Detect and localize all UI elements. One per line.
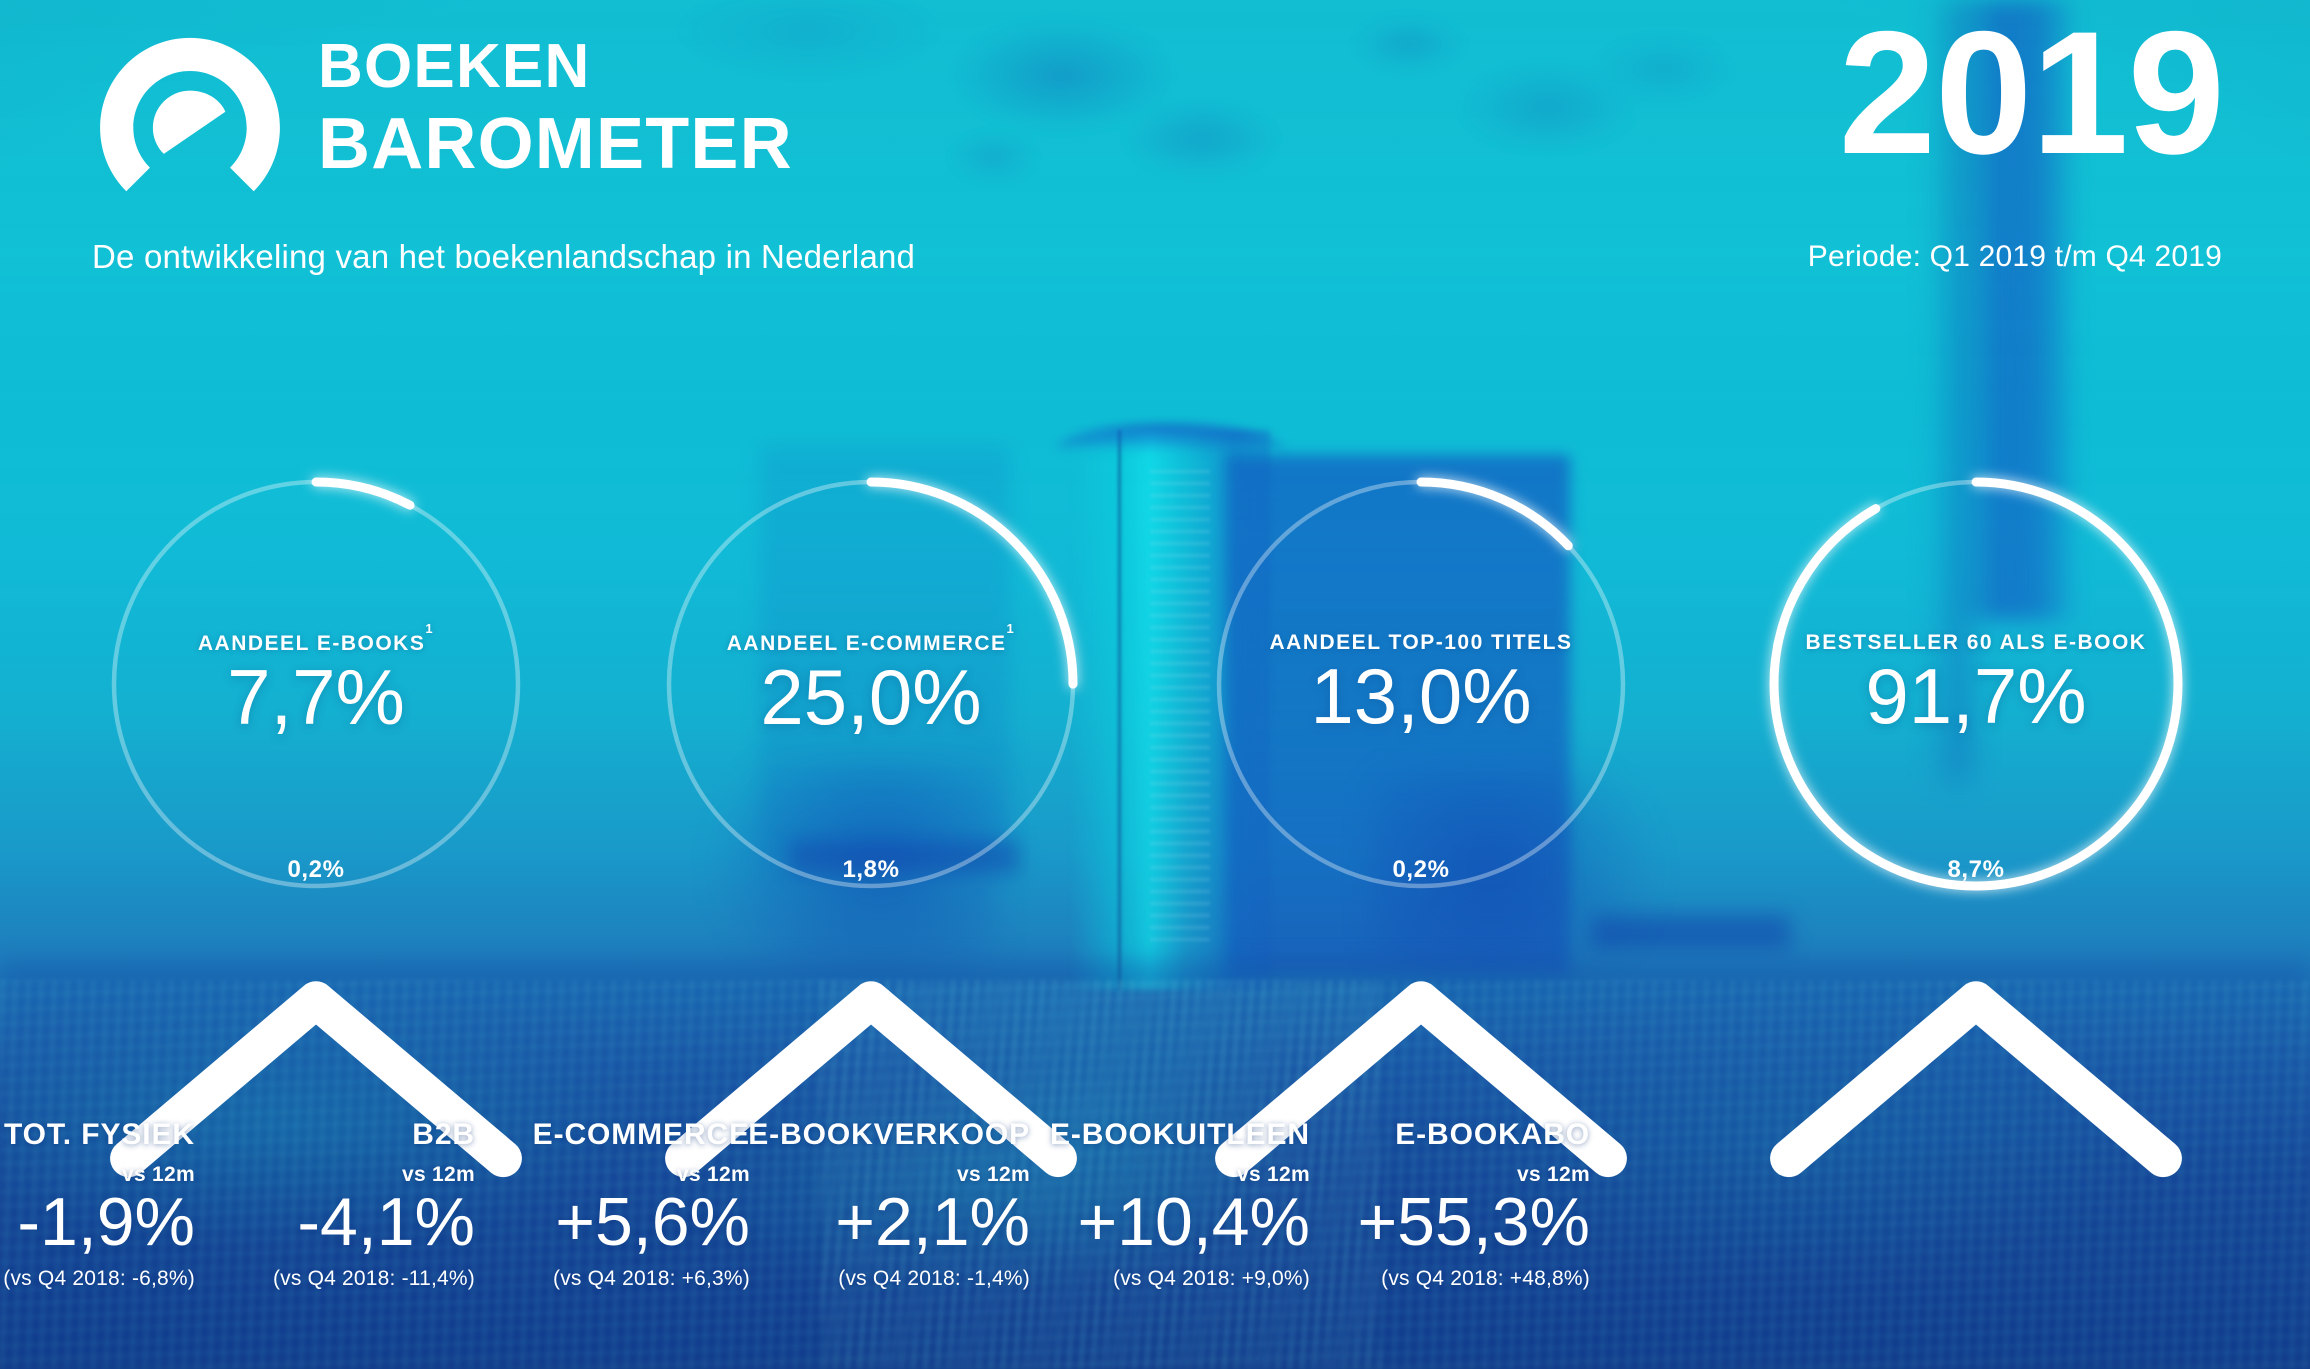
tagline: De ontwikkeling van het boekenlandschap … (92, 238, 915, 276)
kpi-name: E-BOOKUITLEEN (1050, 1120, 1310, 1150)
kpi-card: E-BOOKUITLEENvs 12m+10,4%(vs Q4 2018: +9… (1050, 1120, 1310, 1289)
infographic-canvas: BOEKEN BAROMETER De ontwikkeling van het… (0, 0, 2310, 1369)
ring-delta: 0,2% (1205, 856, 1637, 884)
ring-center-content: BESTSELLER 60 ALS E-BOOK91,7% (1760, 468, 2192, 900)
kpi-subvalue: (vs Q4 2018: +6,3%) (533, 1268, 750, 1289)
ring-label-text: AANDEEL TOP-100 TITELS (1270, 631, 1573, 654)
ring-delta: 0,2% (100, 856, 532, 884)
kpi-subvalue: (vs Q4 2018: -1,4%) (748, 1268, 1030, 1289)
kpi-period: vs 12m (748, 1164, 1030, 1185)
brand-line-2: BAROMETER (318, 108, 793, 180)
ring-value: 7,7% (227, 658, 405, 738)
ring-center-content: AANDEEL E-BOOKS17,7% (100, 468, 532, 900)
kpi-row: TOT. FYSIEKvs 12m-1,9%(vs Q4 2018: -6,8%… (0, 1120, 2310, 1350)
kpi-period: vs 12m (3, 1164, 195, 1185)
kpi-name: E-COMMERCE (533, 1120, 750, 1150)
kpi-card: E-BOOKVERKOOPvs 12m+2,1%(vs Q4 2018: -1,… (748, 1120, 1030, 1289)
ring-value: 91,7% (1865, 657, 2086, 737)
ring-center-content: AANDEEL E-COMMERCE125,0% (655, 468, 1087, 900)
kpi-card: B2Bvs 12m-4,1%(vs Q4 2018: -11,4%) (273, 1120, 475, 1289)
ring-label-text: BESTSELLER 60 ALS E-BOOK (1806, 631, 2147, 654)
brand-line-1: BOEKEN (318, 36, 793, 98)
kpi-value: +2,1% (748, 1187, 1030, 1258)
kpi-name: E-BOOKABO (1357, 1120, 1590, 1150)
kpi-subvalue: (vs Q4 2018: +48,8%) (1357, 1268, 1590, 1289)
kpi-card: E-COMMERCEvs 12m+5,6%(vs Q4 2018: +6,3%) (533, 1120, 750, 1289)
period-label: Periode: Q1 2019 t/m Q4 2019 (1808, 240, 2222, 274)
ring-value: 13,0% (1310, 657, 1531, 737)
ring-gauge-row: AANDEEL E-BOOKS17,7%0,2%AANDEEL E-COMMER… (0, 468, 2310, 938)
ring-label-footnote-marker: 1 (1007, 621, 1016, 636)
ring-gauge: AANDEEL TOP-100 TITELS13,0%0,2% (1205, 468, 1637, 928)
ring-label-footnote-marker: 1 (425, 621, 434, 636)
ring-value: 25,0% (760, 658, 981, 738)
kpi-subvalue: (vs Q4 2018: -11,4%) (273, 1268, 475, 1289)
header: BOEKEN BAROMETER De ontwikkeling van het… (0, 0, 2310, 300)
kpi-value: -1,9% (3, 1187, 195, 1258)
year-title: 2019 (1839, 6, 2224, 181)
kpi-value: +5,6% (533, 1187, 750, 1258)
kpi-name: B2B (273, 1120, 475, 1150)
kpi-name: E-BOOKVERKOOP (748, 1120, 1030, 1150)
kpi-period: vs 12m (1050, 1164, 1310, 1185)
ring-delta: 8,7% (1760, 856, 2192, 884)
kpi-value: +55,3% (1357, 1187, 1590, 1258)
ring-center-content: AANDEEL TOP-100 TITELS13,0% (1205, 468, 1637, 900)
kpi-period: vs 12m (1357, 1164, 1590, 1185)
brand-lockup: BOEKEN BAROMETER (92, 30, 793, 202)
ring-delta: 1,8% (655, 856, 1087, 884)
brand-wordmark: BOEKEN BAROMETER (318, 30, 793, 180)
ring-gauge: AANDEEL E-BOOKS17,7%0,2% (100, 468, 532, 928)
kpi-period: vs 12m (533, 1164, 750, 1185)
ring-gauge: AANDEEL E-COMMERCE125,0%1,8% (655, 468, 1087, 928)
ring-label-text: AANDEEL E-COMMERCE (727, 632, 1007, 655)
boekenbarometer-gauge-logo-icon (92, 30, 288, 202)
ring-label-text: AANDEEL E-BOOKS (198, 632, 425, 655)
ring-gauge: BESTSELLER 60 ALS E-BOOK91,7%8,7% (1760, 468, 2192, 928)
kpi-name: TOT. FYSIEK (3, 1120, 195, 1150)
kpi-value: -4,1% (273, 1187, 475, 1258)
kpi-card: E-BOOKABOvs 12m+55,3%(vs Q4 2018: +48,8%… (1357, 1120, 1590, 1289)
kpi-subvalue: (vs Q4 2018: +9,0%) (1050, 1268, 1310, 1289)
kpi-subvalue: (vs Q4 2018: -6,8%) (3, 1268, 195, 1289)
kpi-value: +10,4% (1050, 1187, 1310, 1258)
kpi-card: TOT. FYSIEKvs 12m-1,9%(vs Q4 2018: -6,8%… (3, 1120, 195, 1289)
kpi-period: vs 12m (273, 1164, 475, 1185)
